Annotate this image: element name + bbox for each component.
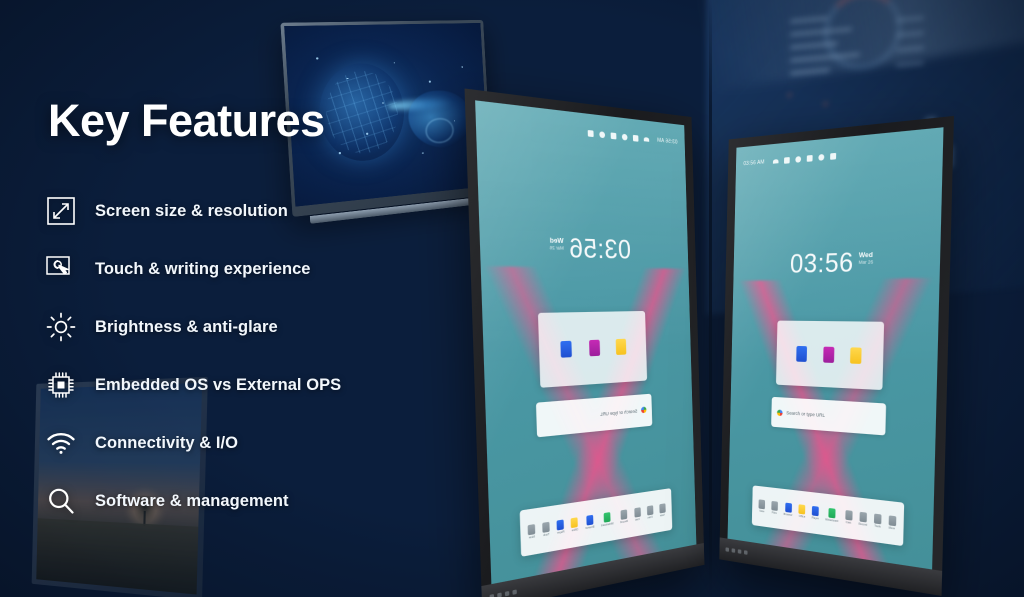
taskbar-app-icon [634, 507, 641, 517]
taskbar-app-icon [785, 502, 792, 512]
taskbar-app-icon [799, 504, 806, 514]
taskbar-item[interactable]: Tools [542, 522, 550, 538]
app-shortcut-card[interactable] [538, 311, 647, 388]
blue-app-icon[interactable] [561, 341, 573, 358]
touch-pointer-icon [44, 252, 78, 286]
google-icon [641, 407, 647, 414]
taskbar-app-icon [828, 507, 835, 517]
yellow-app-icon[interactable] [616, 339, 627, 355]
app-shortcut-card[interactable] [776, 321, 884, 391]
feature-item-1[interactable]: Screen size & resolution [44, 182, 424, 240]
taskbar-item[interactable]: Whiteboard [825, 507, 838, 523]
feature-label: Screen size & resolution [95, 202, 288, 221]
taskbar-item[interactable]: Office [571, 517, 578, 532]
settings-icon[interactable] [599, 131, 605, 138]
taskbar-app-icon [571, 517, 578, 528]
taskbar-item[interactable]: Browser [784, 502, 793, 517]
taskbar-app-icon [647, 505, 654, 515]
taskbar-app-icon [604, 512, 611, 523]
taskbar-item[interactable]: Browser [585, 515, 595, 531]
taskbar-item-label: Files [772, 511, 777, 515]
clock-time: 03:56 [790, 250, 854, 278]
taskbar-item-label: Whiteboard [825, 518, 838, 523]
feature-label: Touch & writing experience [95, 260, 311, 279]
clock-widget: 03:56 Wed Mar 26 [790, 249, 874, 278]
taskbar-item[interactable]: Whiteboard [601, 511, 614, 527]
taskbar-item-label: Browser [585, 525, 594, 530]
taskbar-item-label: Tools [874, 524, 880, 528]
battery-icon[interactable] [795, 156, 801, 163]
taskbar-item-label: Browser [784, 512, 793, 516]
taskbar-app-icon [659, 503, 665, 513]
taskbar-item[interactable]: More [528, 524, 536, 540]
taskbar-app-icon [888, 515, 896, 526]
bluetooth-icon[interactable] [784, 157, 790, 164]
clock-date: Mar 26 [549, 245, 563, 251]
feature-label: Embedded OS vs External OPS [95, 376, 341, 395]
taskbar-item-label: Note [759, 509, 764, 513]
settings-icon[interactable] [818, 154, 824, 161]
left-content-panel: Key Features Screen size & resolutionTou… [0, 0, 430, 597]
cpu-chip-icon [44, 368, 78, 402]
taskbar-item-label: Cast [846, 520, 851, 524]
battery-icon[interactable] [622, 133, 628, 140]
taskbar-item[interactable]: Player [557, 519, 565, 534]
taskbar-app-icon [812, 505, 819, 515]
feature-label: Brightness & anti-glare [95, 318, 278, 337]
clock-time: 03:56 [568, 235, 631, 263]
taskbar-item-label: Tools [543, 533, 549, 537]
clock-date: Mar 26 [859, 259, 874, 265]
taskbar-app-icon [859, 511, 866, 522]
cast-icon[interactable] [611, 132, 617, 139]
taskbar-item[interactable]: Player [812, 505, 819, 520]
feature-item-4[interactable]: Embedded OS vs External OPS [44, 356, 424, 414]
taskbar-item-label: Files [647, 516, 652, 520]
feature-label: Software & management [95, 492, 289, 511]
port-indicators [490, 589, 517, 597]
feature-item-3[interactable]: Brightness & anti-glare [44, 298, 424, 356]
wifi-icon [44, 426, 78, 460]
resize-arrows-icon [44, 194, 78, 228]
taskbar-app-icon [771, 500, 778, 510]
interactive-flat-panel-left[interactable]: 03:56 AM 03:56 Wed Mar 26 [465, 88, 705, 597]
magnifier-search-icon [44, 484, 78, 518]
taskbar-item-label: More [889, 526, 895, 530]
display-screen[interactable]: 03:56 AM 03:56 Wed Mar 26 [728, 127, 944, 569]
search-placeholder: Search or type URL [600, 408, 638, 417]
taskbar-app-icon [586, 515, 593, 526]
magenta-app-icon[interactable] [589, 340, 600, 357]
page-title: Key Features [48, 95, 325, 147]
taskbar-item[interactable]: Note [759, 499, 766, 513]
taskbar-item[interactable]: Cast [845, 509, 852, 524]
taskbar-item[interactable]: More [888, 515, 896, 530]
taskbar-app-icon [557, 519, 564, 530]
google-icon [777, 409, 783, 416]
display-bezel: 03:56 AM 03:56 Wed Mar 26 [465, 88, 705, 597]
taskbar-item-label: Cast [635, 518, 640, 522]
search-placeholder: Search or type URL [786, 410, 825, 418]
taskbar-item-label: More [529, 535, 535, 539]
sun-brightness-icon [44, 310, 78, 344]
bluetooth-icon[interactable] [633, 134, 639, 141]
apps-icon[interactable] [588, 130, 594, 137]
taskbar-item[interactable]: Record [859, 511, 868, 526]
taskbar-item-label: Office [799, 514, 806, 518]
taskbar-item-label: Player [557, 530, 565, 535]
taskbar-app-icon [845, 509, 852, 520]
taskbar-item-label: Player [812, 516, 819, 520]
blue-app-icon[interactable] [796, 346, 807, 362]
feature-item-2[interactable]: Touch & writing experience [44, 240, 424, 298]
wifi-icon[interactable] [644, 137, 649, 142]
taskbar-item[interactable]: Files [647, 505, 654, 519]
display-bezel: 03:56 AM 03:56 Wed Mar 26 [719, 116, 954, 596]
taskbar-app-icon [620, 509, 627, 520]
taskbar-item[interactable]: Tools [874, 513, 882, 528]
feature-label: Connectivity & I/O [95, 434, 238, 453]
feature-item-5[interactable]: Connectivity & I/O [44, 414, 424, 472]
taskbar-item-label: Record [620, 520, 628, 524]
feature-item-6[interactable]: Software & management [44, 472, 424, 530]
feature-list: Screen size & resolutionTouch & writing … [44, 182, 424, 530]
port-indicators [726, 547, 748, 554]
clock-widget: 03:56 Wed Mar 26 [549, 234, 631, 263]
taskbar-app-icon [542, 522, 550, 533]
taskbar-item[interactable]: Files [771, 500, 778, 514]
taskbar-item-label: Record [859, 522, 868, 526]
taskbar-item[interactable]: Note [659, 503, 666, 517]
cast-icon[interactable] [807, 155, 813, 162]
yellow-app-icon[interactable] [850, 347, 862, 364]
taskbar-item[interactable]: Office [799, 504, 806, 518]
interactive-flat-panel-right[interactable]: 03:56 AM 03:56 Wed Mar 26 [719, 116, 954, 596]
taskbar-app-icon [759, 499, 766, 509]
slide-stage: 03:56 AM 03:56 Wed Mar 26 [0, 0, 1024, 597]
display-screen[interactable]: 03:56 AM 03:56 Wed Mar 26 [475, 100, 696, 584]
magenta-app-icon[interactable] [823, 346, 834, 362]
apps-icon[interactable] [830, 152, 836, 159]
taskbar-app-icon [874, 513, 882, 524]
taskbar-item-label: Office [572, 528, 579, 532]
taskbar-item-label: Note [660, 514, 665, 518]
taskbar-item[interactable]: Cast [634, 507, 641, 522]
wifi-icon[interactable] [773, 159, 779, 164]
taskbar-item-label: Whiteboard [601, 522, 614, 527]
taskbar-app-icon [528, 524, 536, 535]
taskbar-item[interactable]: Record [620, 509, 628, 524]
